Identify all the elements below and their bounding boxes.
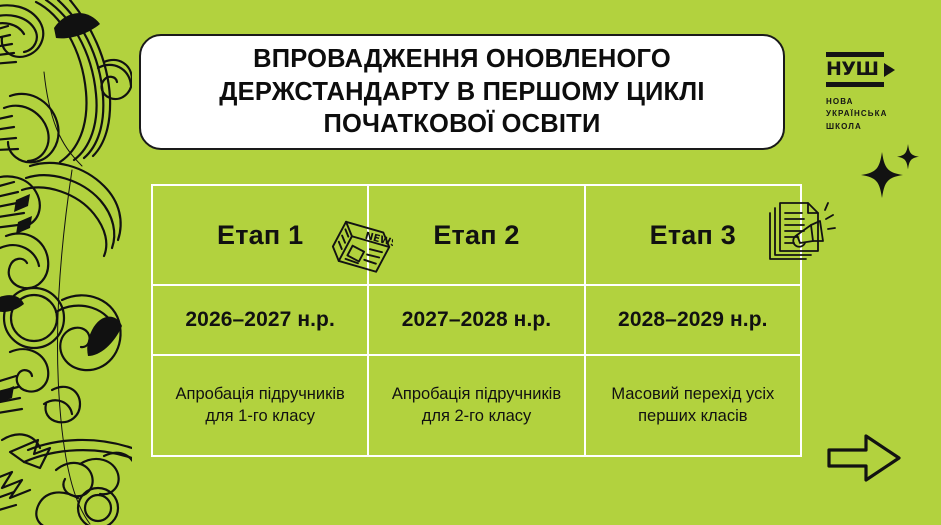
nush-logo: НУШ НОВА УКРАЇНСЬКА ШКОЛА [826,52,922,133]
nush-wordmark: НУШ [826,60,879,79]
slide-title-card: ВПРОВАДЖЕННЯ ОНОВЛЕНОГО ДЕРЖСТАНДАРТУ В … [139,34,785,150]
table-cell-years-3: 2028–2029 н.р. [584,284,802,356]
table-cell-years-1: 2026–2027 н.р. [151,284,369,356]
nush-subtitle: НОВА УКРАЇНСЬКА ШКОЛА [826,96,922,133]
nush-bar-bottom [826,82,884,87]
play-triangle-icon [884,63,895,77]
table-cell-description-2: Апробація підручників для 2-го класу [367,354,585,457]
arrow-right-icon [826,432,902,484]
table-cell-stage-3: Етап 3 [584,184,802,286]
table-cell-stage-2: Етап 2 [367,184,585,286]
table-cell-years-2: 2027–2028 н.р. [367,284,585,356]
table-cell-description-3: Масовий перехід усіх перших класів [584,354,802,457]
slide-canvas: ВПРОВАДЖЕННЯ ОНОВЛЕНОГО ДЕРЖСТАНДАРТУ В … [0,0,941,525]
nush-bar-top [826,52,884,57]
nush-mark-row: НУШ [826,60,922,79]
ornamental-doodle-band [0,0,132,525]
sparkle-icon [858,142,928,212]
table-cell-stage-1: Етап 1 [151,184,369,286]
stages-table: Етап 1 Етап 2 Етап 3 2026–2027 н.р. 2027… [152,185,801,456]
table-cell-description-1: Апробація підручників для 1-го класу [151,354,369,457]
page-title: ВПРОВАДЖЕННЯ ОНОВЛЕНОГО ДЕРЖСТАНДАРТУ В … [209,43,714,141]
